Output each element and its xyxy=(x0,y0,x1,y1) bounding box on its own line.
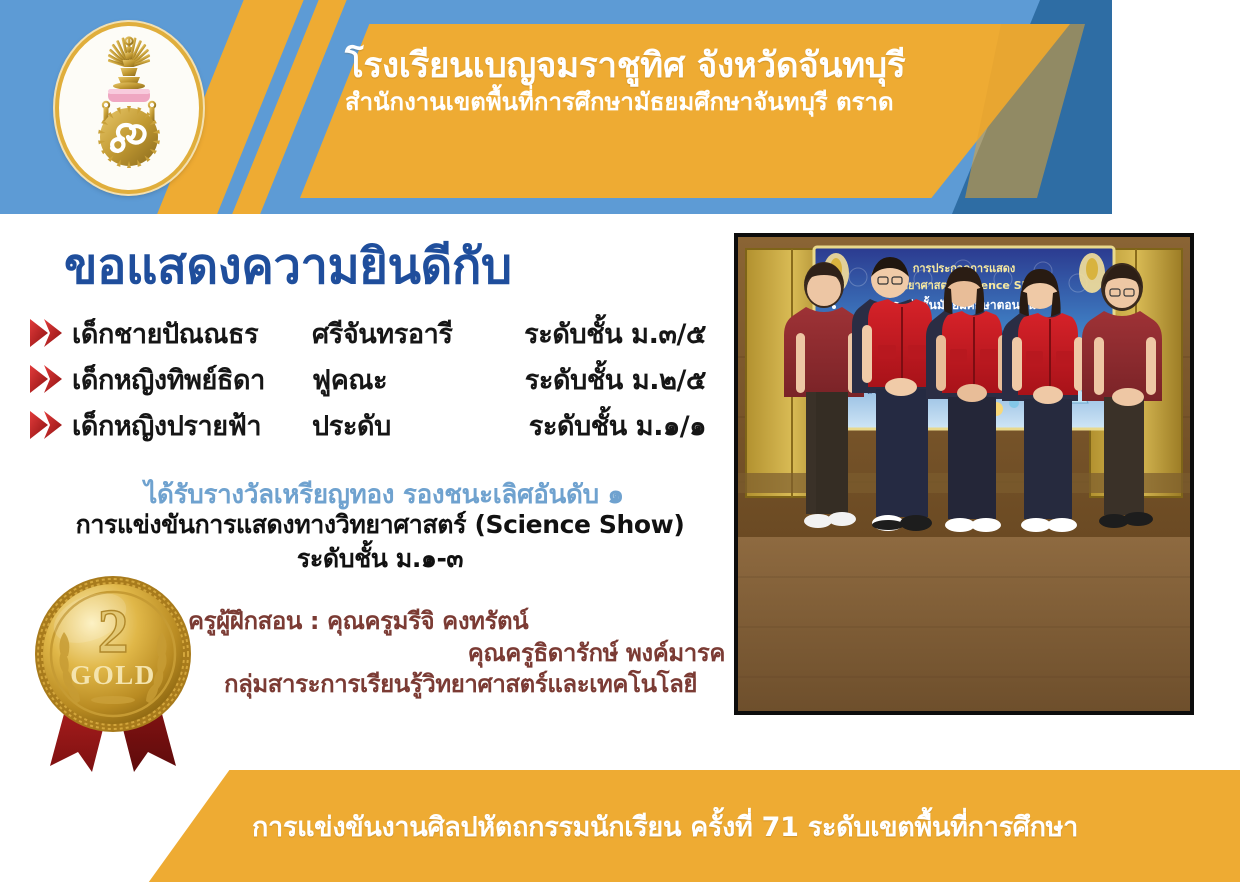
poster-root: โรงเรียนเบญจมราชูทิศ จังหวัดจันทบุรี สำน… xyxy=(0,0,1240,882)
student-surname: ศรีจันทรอารี xyxy=(312,312,492,355)
school-name: โรงเรียนเบญจมราชูทิศ จังหวัดจันทบุรี xyxy=(345,48,1035,86)
school-emblem xyxy=(55,22,203,194)
gold-medal: 2 GOLD xyxy=(20,566,208,781)
student-surname: ฟูคณะ xyxy=(312,358,492,401)
student-level: ระดับชั้น ม.๒/๕ xyxy=(492,358,724,401)
student-level: ระดับชั้น ม.๓/๕ xyxy=(492,312,724,355)
emblem-ring xyxy=(55,22,203,194)
teacher-line-1: ครูผู้ฝึกสอน : คุณครูมรีจิ คงทรัตน์ xyxy=(188,606,733,638)
chevron-right-icon xyxy=(24,408,72,442)
school-office-name: สำนักงานเขตพื้นที่การศึกษามัธยมศึกษาจันท… xyxy=(345,88,1035,117)
student-name: เด็กหญิงปรายฟ้า xyxy=(72,404,312,447)
student-list: เด็กชายปัณณธร ศรีจันทรอารี ระดับชั้น ม.๓… xyxy=(24,312,724,450)
chevron-right-icon xyxy=(24,316,72,350)
teacher-line-2: คุณครูธิดารักษ์ พงค์มารค xyxy=(188,638,733,670)
gold-medal-icon: 2 GOLD xyxy=(20,566,208,781)
student-surname: ประดับ xyxy=(312,404,492,447)
royal-crest-icon xyxy=(75,33,183,183)
footer-text: การแข่งขันงานศิลปหัตถกรรมนักเรียน ครั้งท… xyxy=(0,770,1240,882)
group-photo: การประกวดการแสดง ทางวิทยาศาสตร์ (Science… xyxy=(734,233,1194,715)
teacher-department: กลุ่มสาระการเรียนรู้วิทยาศาสตร์และเทคโนโ… xyxy=(188,669,733,701)
medal-label: GOLD xyxy=(70,660,156,690)
student-name: เด็กหญิงทิพย์ธิดา xyxy=(72,358,312,401)
footer-banner: การแข่งขันงานศิลปหัตถกรรมนักเรียน ครั้งท… xyxy=(0,770,1240,882)
group-photo-image: การประกวดการแสดง ทางวิทยาศาสตร์ (Science… xyxy=(738,237,1190,711)
student-level: ระดับชั้น ม.๑/๑ xyxy=(492,404,724,447)
header-text-block: โรงเรียนเบญจมราชูทิศ จังหวัดจันทบุรี สำน… xyxy=(345,48,1035,117)
congratulations-heading: ขอแสดงความยินดีกับ xyxy=(64,242,512,291)
list-item: เด็กหญิงทิพย์ธิดา ฟูคณะ ระดับชั้น ม.๒/๕ xyxy=(24,358,724,400)
award-detail-line1: การแข่งขันการแสดงทางวิทยาศาสตร์ (Science… xyxy=(76,510,685,539)
list-item: เด็กชายปัณณธร ศรีจันทรอารี ระดับชั้น ม.๓… xyxy=(24,312,724,354)
teacher-credits: ครูผู้ฝึกสอน : คุณครูมรีจิ คงทรัตน์ คุณค… xyxy=(188,606,733,701)
student-name: เด็กชายปัณณธร xyxy=(72,312,312,355)
medal-number: 2 xyxy=(98,598,129,666)
chevron-right-icon xyxy=(24,362,72,396)
list-item: เด็กหญิงปรายฟ้า ประดับ ระดับชั้น ม.๑/๑ xyxy=(24,404,724,446)
